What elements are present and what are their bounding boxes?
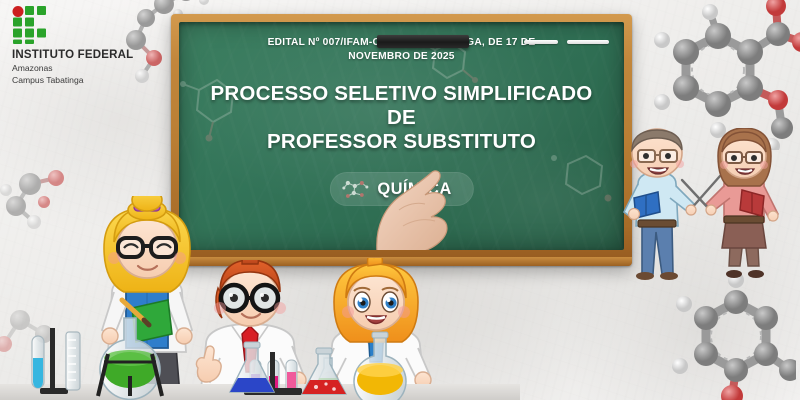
erlenmeyer-red [302,348,346,394]
logo-subtitle-campus: Campus Tabatinga [12,75,162,86]
main-title-line-1: PROCESSO SELETIVO SIMPLIFICADO [201,82,602,106]
test-tube-blue [32,336,44,388]
instituto-federal-pixel-logo-icon [12,6,56,44]
logo-title: INSTITUTO FEDERAL [12,49,162,62]
edital-line-2: NOVEMBRO DE 2025 [201,50,602,64]
main-title-line-2: DE [201,106,602,130]
glassware-group [0,314,520,400]
molecule-mid-left-decoration [0,150,86,260]
molecule-icon [339,177,371,201]
chalkboard: EDITAL Nº 007/IFAM-CAMPUS TABATINGA, DE … [179,22,624,250]
chalkboard-eraser[interactable] [377,35,469,48]
banner-canvas: INSTITUTO FEDERAL Amazonas Campus Tabati… [0,0,800,400]
molecule-bottom-right-decoration [666,272,796,400]
flask-yellow [354,332,406,400]
chalk-stick-2[interactable] [567,40,609,44]
pointing-hand-icon [369,144,479,250]
chalkboard-frame: EDITAL Nº 007/IFAM-CAMPUS TABATINGA, DE … [171,14,632,266]
instituto-federal-logo: INSTITUTO FEDERAL Amazonas Campus Tabati… [12,6,162,86]
erlenmeyer-blue [230,342,274,392]
tube-stand-base [40,388,68,394]
chalk-stick-1[interactable] [524,40,558,44]
teachers-illustration [612,128,794,280]
tube-stand-rod [50,328,55,390]
graduated-cylinder [66,332,80,390]
logo-subtitle-state: Amazonas [12,63,162,74]
